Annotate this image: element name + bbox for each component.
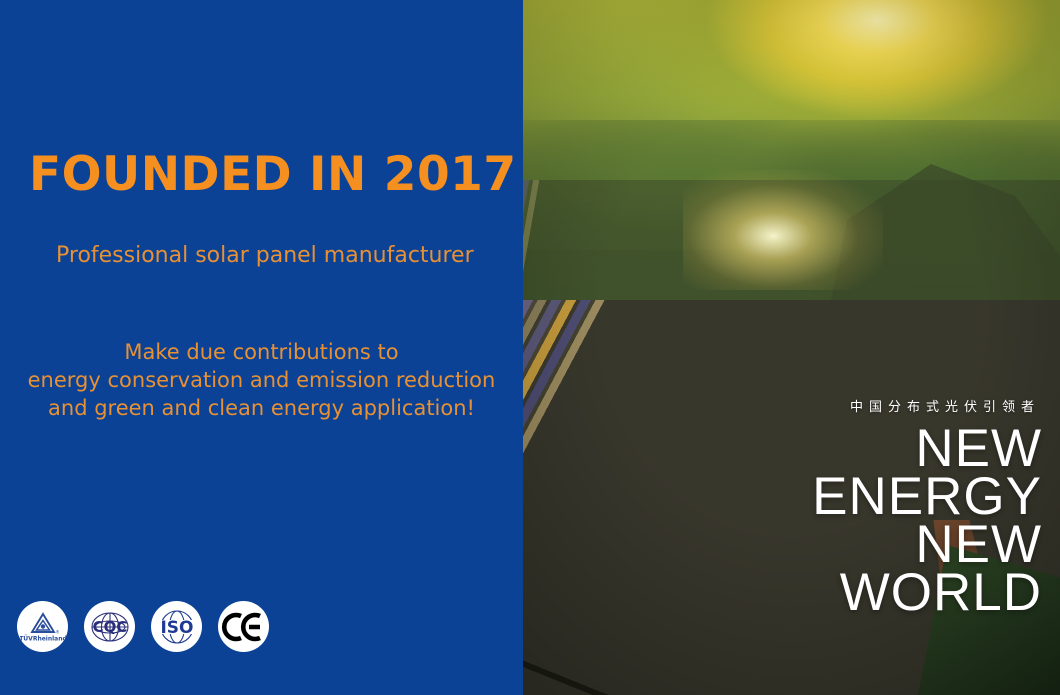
svg-text:ISO: ISO	[160, 618, 193, 638]
certification-badge-cqc: CQC	[84, 601, 135, 652]
tagline-line-3: and green and clean energy application!	[0, 394, 523, 422]
left-blue-panel: FOUNDED IN 2017 Professional solar panel…	[0, 0, 523, 695]
tuv-rheinland-icon: ® TÜVRheinland	[20, 604, 66, 650]
slogan-line-1: NEW	[622, 425, 1042, 473]
slogan-line-4: WORLD	[622, 569, 1042, 617]
english-slogan: NEW ENERGY NEW WORLD	[622, 425, 1042, 617]
promotional-banner: 中国分布式光伏引领者 NEW ENERGY NEW WORLD FOUNDED …	[0, 0, 1060, 695]
certification-badge-iso: ISO	[151, 601, 202, 652]
certification-badge-ce	[218, 601, 269, 652]
page-title: FOUNDED IN 2017	[29, 150, 517, 199]
tagline-line-1: Make due contributions to	[0, 338, 523, 366]
tagline: Make due contributions to energy conserv…	[0, 338, 523, 422]
ce-mark-icon	[220, 603, 268, 651]
certification-badges: ® TÜVRheinland CQC	[17, 601, 269, 652]
iso-icon: ISO	[153, 603, 201, 651]
svg-text:®: ®	[55, 629, 59, 634]
slogan-line-2: ENERGY	[622, 473, 1042, 521]
chinese-slogan: 中国分布式光伏引领者	[622, 396, 1042, 415]
svg-text:CQC: CQC	[92, 618, 127, 636]
svg-text:TÜVRheinland: TÜVRheinland	[20, 635, 66, 642]
slogan-line-3: NEW	[622, 521, 1042, 569]
certification-badge-tuv: ® TÜVRheinland	[17, 601, 68, 652]
tagline-line-2: energy conservation and emission reducti…	[0, 366, 523, 394]
subtitle: Professional solar panel manufacturer	[56, 243, 474, 268]
cqc-icon: CQC	[86, 603, 134, 651]
photo-text-overlay: 中国分布式光伏引领者 NEW ENERGY NEW WORLD	[622, 396, 1042, 617]
